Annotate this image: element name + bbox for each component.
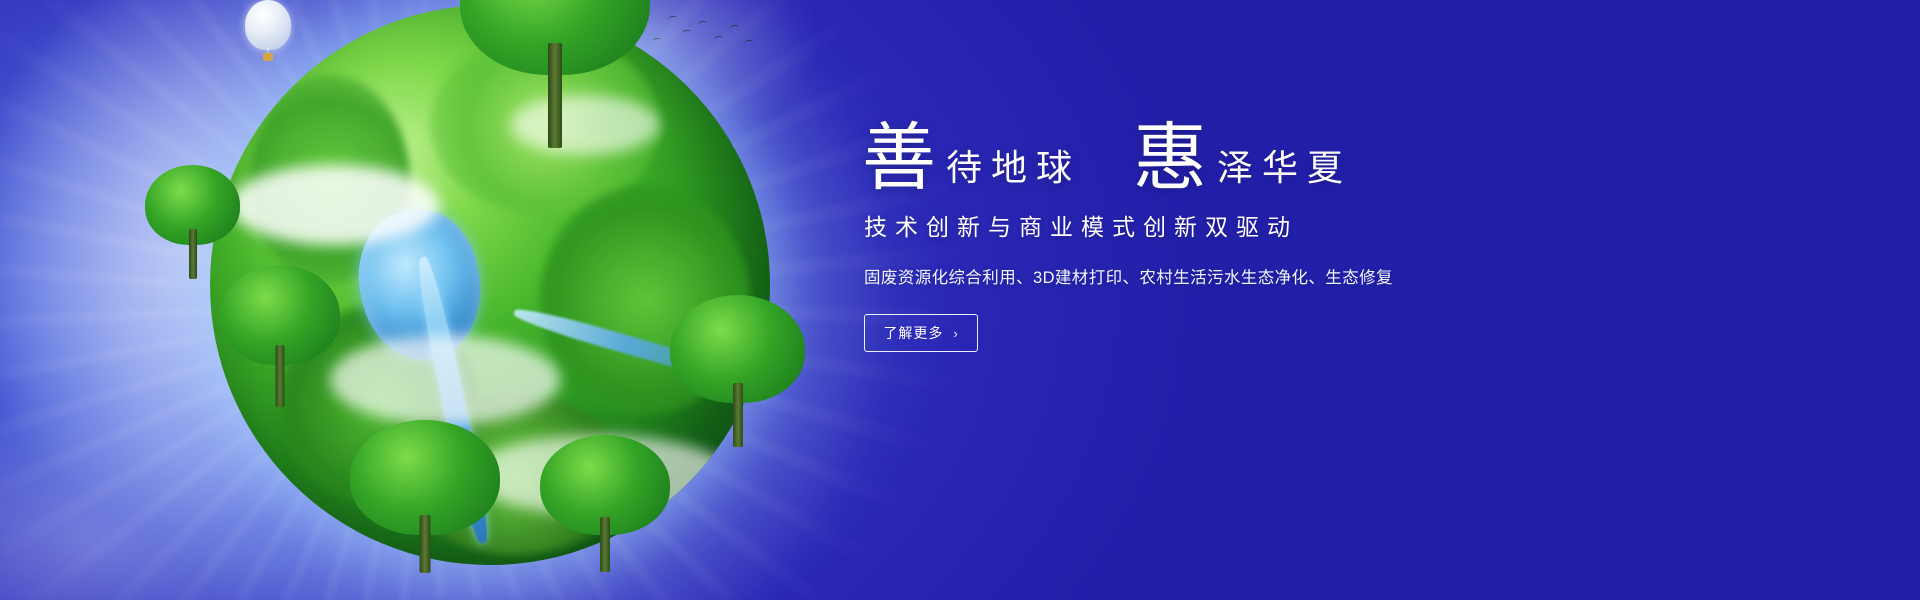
learn-more-label: 了解更多 (883, 323, 943, 343)
tree-trunk (600, 517, 610, 572)
tree-trunk (548, 43, 562, 148)
learn-more-button[interactable]: 了解更多 › (864, 314, 978, 352)
tree-trunk (420, 515, 431, 573)
tree-icon (460, 0, 650, 145)
tree-icon (670, 295, 805, 445)
cloud-shape (330, 335, 560, 425)
hero-text-block: 善 待地球 惠 泽华夏 技术创新与商业模式创新双驱动 固废资源化综合利用、3D建… (862, 118, 1622, 352)
cloud-shape (230, 165, 440, 245)
tree-icon (220, 265, 340, 405)
hero-subtitle: 技术创新与商业模式创新双驱动 (864, 208, 1622, 242)
hero-banner: 善 待地球 惠 泽华夏 技术创新与商业模式创新双驱动 固废资源化综合利用、3D建… (0, 0, 1920, 600)
headline-part1-small: 待地球 (946, 150, 1081, 186)
tree-icon (540, 435, 670, 570)
balloon-basket (263, 53, 273, 61)
headline-part1-big: 善 (862, 122, 936, 196)
hero-description: 固废资源化综合利用、3D建材打印、农村生活污水生态净化、生态修复 (864, 264, 1622, 288)
tiny-planet-illustration (150, 0, 830, 600)
hero-headline: 善 待地球 惠 泽华夏 (862, 118, 1622, 192)
tree-trunk (733, 383, 743, 447)
tree-trunk (189, 229, 197, 279)
tree-icon (145, 165, 240, 280)
headline-part2-small: 泽华夏 (1217, 150, 1352, 186)
tree-icon (350, 420, 500, 570)
tree-trunk (276, 345, 285, 407)
hot-air-balloon-icon (245, 0, 291, 62)
balloon-envelope (245, 0, 291, 50)
chevron-right-icon: › (953, 326, 958, 341)
headline-part2-big: 惠 (1133, 122, 1207, 196)
